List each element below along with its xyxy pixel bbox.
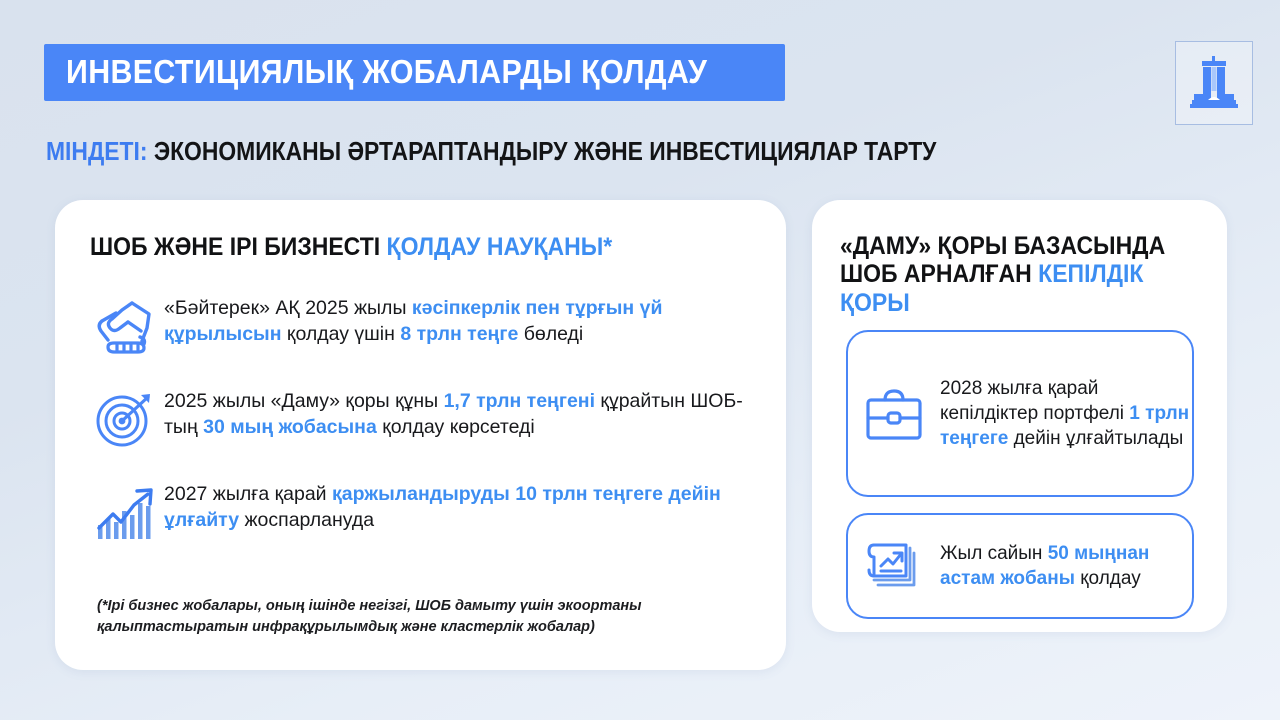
bullet-text: 2027 жылға қарай қаржыландыруды 10 трлн …: [164, 474, 758, 534]
seg: қолдау үшін: [287, 323, 400, 345]
box-text: Жыл сайын 50 мыңнан астам жобаны қолдау: [940, 541, 1192, 591]
target-icon: [88, 383, 164, 455]
left-card-heading: ШОБ ЖӘНЕ ІРІ БИЗНЕСТІ ҚОЛДАУ НАУҚАНЫ*: [90, 233, 612, 261]
bullet-list: «Бәйтерек» АҚ 2025 жылы кәсіпкерлік пен …: [88, 288, 758, 567]
footnote: (*Ірі бизнес жобалары, оның ішінде негіз…: [97, 596, 777, 638]
list-item: 2025 жылы «Даму» қоры құны 1,7 трлн теңг…: [88, 381, 758, 455]
government-building-emblem: [1175, 41, 1253, 125]
briefcase-icon: [848, 387, 940, 441]
subtitle-label: МІНДЕТІ:: [46, 136, 147, 166]
right-card-heading: «ДАМУ» ҚОРЫ БАЗАСЫНДА ШОБ АРНАЛҒАН КЕПІЛ…: [840, 232, 1196, 317]
list-item: 2027 жылға қарай қаржыландыруды 10 трлн …: [88, 474, 758, 548]
seg-highlight: 1,7 трлн теңгені: [444, 390, 601, 412]
support-campaign-card: ШОБ ЖӘНЕ ІРІ БИЗНЕСТІ ҚОЛДАУ НАУҚАНЫ*: [55, 200, 786, 670]
right-heading-line1: «ДАМУ» ҚОРЫ БАЗАСЫНДА: [840, 232, 1165, 260]
page-title-banner: ИНВЕСТИЦИЯЛЫҚ ЖОБАЛАРДЫ ҚОЛДАУ: [44, 44, 785, 101]
seg: қолдау көрсетеді: [382, 416, 535, 438]
building-icon: [1188, 54, 1240, 112]
seg: «Бәйтерек» АҚ 2025 жылы: [164, 297, 412, 319]
bullet-text: 2025 жылы «Даму» қоры құны 1,7 трлн теңг…: [164, 381, 758, 441]
seg: Жыл сайын: [940, 543, 1048, 564]
seg-highlight: 8 трлн теңге: [400, 323, 523, 345]
seg: қолдау: [1080, 568, 1141, 589]
seg-highlight: 30 мың жобасына: [203, 416, 382, 438]
guarantee-portfolio-box: 2028 жылға қарай кепілдіктер портфелі 1 …: [846, 330, 1194, 497]
bullet-text: «Бәйтерек» АҚ 2025 жылы кәсіпкерлік пен …: [164, 288, 758, 348]
left-heading-black: ШОБ ЖӘНЕ ІРІ БИЗНЕСТІ: [90, 233, 387, 261]
annual-projects-box: Жыл сайын 50 мыңнан астам жобаны қолдау: [846, 513, 1194, 619]
page-title: ИНВЕСТИЦИЯЛЫҚ ЖОБАЛАРДЫ ҚОЛДАУ: [66, 55, 707, 88]
handshake-icon: [88, 290, 164, 362]
seg: 2028 жылға қарай кепілдіктер портфелі: [940, 378, 1129, 424]
seg: дейін ұлғайтылады: [1014, 428, 1184, 449]
guarantee-fund-card: «ДАМУ» ҚОРЫ БАЗАСЫНДА ШОБ АРНАЛҒАН КЕПІЛ…: [812, 200, 1227, 632]
page-subtitle: МІНДЕТІ: ЭКОНОМИКАНЫ ӘРТАРАПТАНДЫРУ ЖӘНЕ…: [46, 138, 936, 164]
documents-chart-icon: [848, 539, 940, 593]
seg: 2027 жылға қарай: [164, 483, 332, 505]
seg: 2025 жылы «Даму» қоры құны: [164, 390, 444, 412]
box-text: 2028 жылға қарай кепілдіктер портфелі 1 …: [940, 376, 1192, 451]
growth-chart-icon: [88, 476, 164, 548]
seg: жоспарлануда: [245, 509, 375, 531]
right-heading-line2-black: ШОБ АРНАЛҒАН: [840, 260, 1038, 288]
list-item: «Бәйтерек» АҚ 2025 жылы кәсіпкерлік пен …: [88, 288, 758, 362]
subtitle-text: ЭКОНОМИКАНЫ ӘРТАРАПТАНДЫРУ ЖӘНЕ ИНВЕСТИЦ…: [147, 136, 936, 166]
left-heading-blue: ҚОЛДАУ НАУҚАНЫ*: [387, 233, 613, 261]
seg: бөледі: [524, 323, 584, 345]
